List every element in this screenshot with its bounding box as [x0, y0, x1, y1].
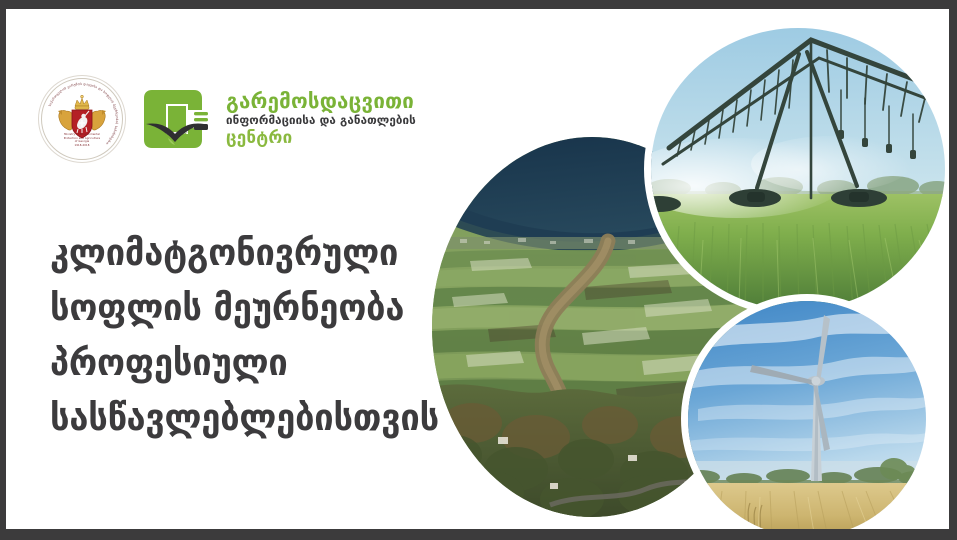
center-pivot-irrigation-photo: [651, 28, 945, 310]
headline-line-2: სოფლის მეურნეობა: [50, 280, 439, 335]
ministry-seal-icon: საქართველოს გარემოს დაცვისა და სოფლის მე…: [38, 75, 126, 163]
wordmark-line-3: ცენტრი: [226, 130, 416, 147]
headline-line-1: კლიმატგონივრული: [50, 225, 439, 280]
wordmark: გარემოსდაცვითი ინფორმაციისა და განათლები…: [226, 91, 416, 146]
frame-edge-top: [0, 0, 957, 9]
wordmark-line-1: გარემოსდაცვითი: [226, 91, 416, 112]
frame-edge-bottom: [0, 529, 957, 540]
coat-of-arms-icon: საქართველოს გარემოს დაცვისა და სოფლის მე…: [38, 75, 126, 163]
open-book-logomark-icon: [138, 82, 212, 156]
branding-lockup: საქართველოს გარემოს დაცვისა და სოფლის მე…: [38, 75, 416, 163]
seal-caption: Ministry of Environmental Protection and…: [38, 133, 126, 147]
wordmark-line-2: ინფორმაციისა და განათლების: [226, 115, 416, 127]
poster-canvas: საქართველოს გარემოს დაცვისა და სოფლის მე…: [6, 9, 949, 529]
frame-edge-left: [0, 0, 6, 540]
page-title: კლიმატგონივრული სოფლის მეურნეობა პროფესი…: [50, 225, 468, 445]
wind-turbine-photo: [688, 301, 926, 529]
frame-edge-right: [949, 0, 957, 540]
headline-line-4: სასწავლებლებისთვის: [50, 390, 439, 445]
headline-line-3: პროფესიული: [50, 335, 439, 390]
poster-banner: საქართველოს გარემოს დაცვისა და სოფლის მე…: [0, 0, 957, 540]
